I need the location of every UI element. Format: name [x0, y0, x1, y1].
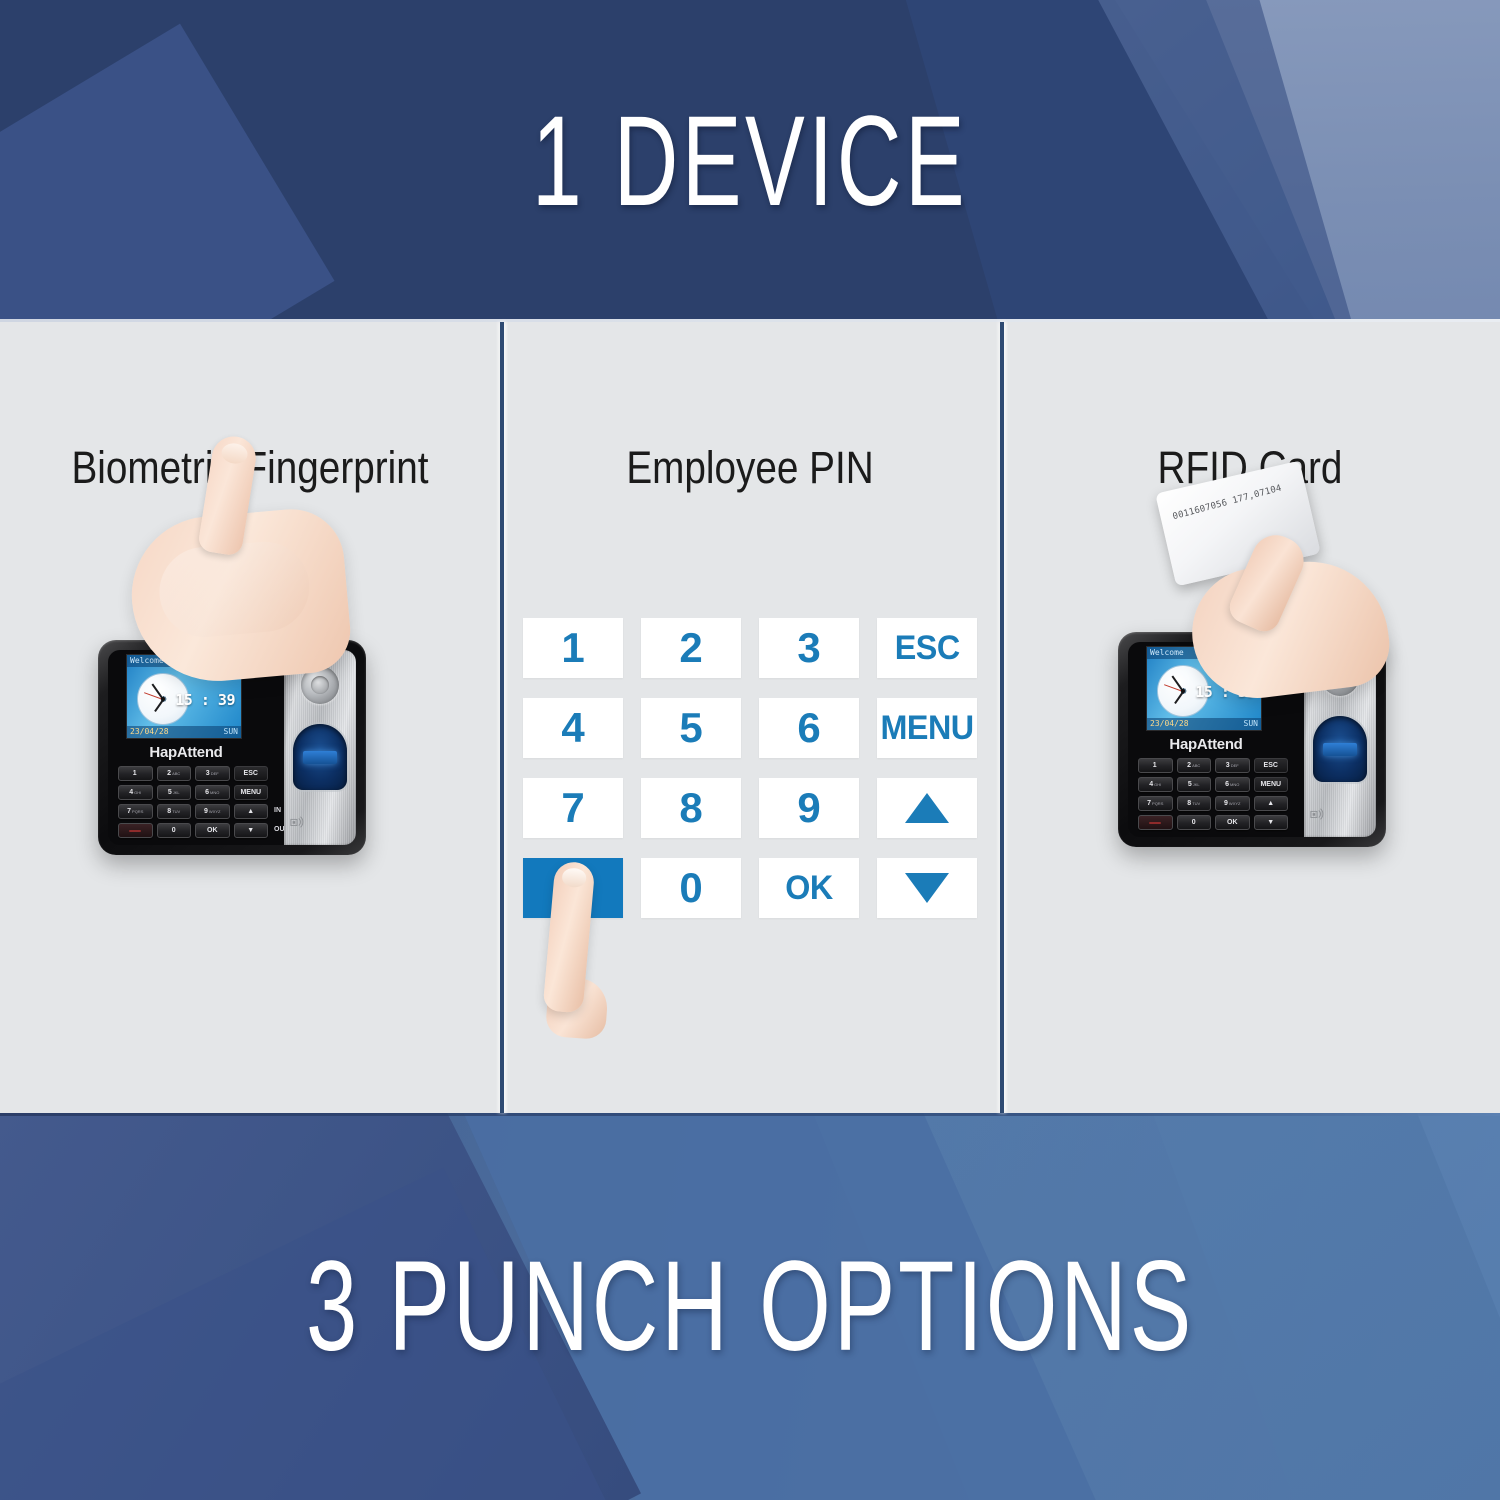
- device-key[interactable]: 0: [157, 823, 192, 838]
- header-banner: 1 DEVICE: [0, 0, 1500, 322]
- screen-welcome-text: Welcome: [127, 655, 241, 667]
- footer-title: 3 PUNCH OPTIONS: [210, 1113, 1290, 1500]
- arrow-up-icon: [905, 793, 949, 823]
- keypad-key-6[interactable]: 6: [759, 698, 859, 758]
- device-key[interactable]: 9WXYZ: [1215, 796, 1250, 811]
- keypad-key-menu[interactable]: MENU: [877, 698, 977, 758]
- clock-center-pin: [1181, 689, 1185, 693]
- rfid-wave-icon: [290, 815, 304, 829]
- keypad-key-up-arrow[interactable]: [877, 778, 977, 838]
- panels-row: Biometric Fingerprint Welcome: [0, 322, 1500, 1113]
- device-key[interactable]: 0: [1177, 815, 1212, 830]
- device-key-esc[interactable]: ESC: [234, 766, 269, 781]
- camera-lens-icon: [301, 666, 339, 704]
- keypad-key-2[interactable]: 2: [641, 618, 741, 678]
- keypad-key-4[interactable]: 4: [523, 698, 623, 758]
- panel-title-fingerprint: Biometric Fingerprint: [35, 442, 465, 494]
- device-key[interactable]: 4GHI: [118, 785, 153, 800]
- device-brand-label: HapAttend: [126, 744, 246, 761]
- rfid-card-number: 0011607056 177,07104: [1172, 484, 1283, 523]
- infographic-page: 1 DEVICE Biometric Fingerprint Welcome: [0, 0, 1500, 1500]
- rfid-wave-icon: [1310, 807, 1324, 821]
- hand-holding-rfid-card: 0011607056 177,07104: [1150, 472, 1420, 682]
- keypad-key-9[interactable]: 9: [759, 778, 859, 838]
- device-key[interactable]: 8TUV: [1177, 796, 1212, 811]
- screen-digital-time: 15 : 39: [175, 691, 235, 709]
- device-key-menu[interactable]: MENU: [234, 785, 269, 800]
- device-keypad: 1 2ABC 3DEF ESC 4GHI 5JKL 6MNO MENU 7PQR…: [118, 766, 268, 838]
- device-key[interactable]: 5JKL: [1177, 777, 1212, 792]
- keypad-key-5[interactable]: 5: [641, 698, 741, 758]
- device-brand-label: HapAttend: [1146, 736, 1266, 753]
- panel-divider-1: [500, 322, 504, 1113]
- device-key-power[interactable]: [1138, 815, 1173, 830]
- screen-date: 23/04/28: [1150, 718, 1189, 730]
- device-key[interactable]: 5JKL: [157, 785, 192, 800]
- screen-status-bar: 23/04/28 SUN: [1147, 718, 1261, 730]
- attendance-terminal: Welcome: [98, 640, 366, 855]
- device-key-up-arrow[interactable]: ▲: [1254, 796, 1289, 811]
- device-fingerprint: Welcome: [98, 640, 366, 855]
- screen-date: 23/04/28: [130, 726, 169, 738]
- keypad-key-ok[interactable]: OK: [759, 858, 859, 918]
- fingerprint-sensor[interactable]: [1313, 716, 1367, 782]
- device-screen: Welcome: [126, 654, 242, 739]
- clock-center-pin: [161, 697, 165, 701]
- device-key[interactable]: 2ABC: [157, 766, 192, 781]
- screen-day-of-week: SUN: [1244, 718, 1258, 730]
- device-key[interactable]: 3DEF: [1215, 758, 1250, 773]
- sensor-column: [284, 650, 356, 845]
- device-key-ok[interactable]: OK: [195, 823, 230, 838]
- device-key[interactable]: 4GHI: [1138, 777, 1173, 792]
- device-in-label: IN: [274, 807, 281, 814]
- device-key[interactable]: 1: [118, 766, 153, 781]
- panel-divider-2: [1000, 322, 1004, 1113]
- keypad-key-down-arrow[interactable]: [877, 858, 977, 918]
- device-key[interactable]: 3DEF: [195, 766, 230, 781]
- fingerprint-sensor[interactable]: [293, 724, 347, 790]
- keypad-key-3[interactable]: 3: [759, 618, 859, 678]
- device-key[interactable]: 1: [1138, 758, 1173, 773]
- device-key[interactable]: 7PQRS: [118, 804, 153, 819]
- device-key[interactable]: 6MNO: [1215, 777, 1250, 792]
- keypad-key-pressed[interactable]: [523, 858, 623, 918]
- screen-status-bar: 23/04/28 SUN: [127, 726, 241, 738]
- panel-biometric-fingerprint: Biometric Fingerprint Welcome: [0, 322, 500, 1113]
- keypad-key-1[interactable]: 1: [523, 618, 623, 678]
- device-key[interactable]: 8TUV: [157, 804, 192, 819]
- pin-keypad: 1 2 3 ESC 4 5 6 MENU 7 8 9 0: [523, 618, 977, 918]
- device-key-down-arrow[interactable]: ▼: [234, 823, 269, 838]
- device-key-esc[interactable]: ESC: [1254, 758, 1289, 773]
- page-title: 1 DEVICE: [225, 0, 1275, 322]
- device-key-ok[interactable]: OK: [1215, 815, 1250, 830]
- arrow-down-icon: [905, 873, 949, 903]
- panel-rfid-card: RFID Card Welcome: [1000, 322, 1500, 1113]
- device-key[interactable]: 9WXYZ: [195, 804, 230, 819]
- device-key-down-arrow[interactable]: ▼: [1254, 815, 1289, 830]
- panel-employee-pin: Employee PIN 1 2 3 ESC 4 5 6 MENU 7 8 9: [500, 322, 1000, 1113]
- device-key[interactable]: 2ABC: [1177, 758, 1212, 773]
- keypad-key-0[interactable]: 0: [641, 858, 741, 918]
- keypad-key-8[interactable]: 8: [641, 778, 741, 838]
- device-key[interactable]: 7PQRS: [1138, 796, 1173, 811]
- device-key[interactable]: 6MNO: [195, 785, 230, 800]
- device-key-up-arrow[interactable]: ▲: [234, 804, 269, 819]
- device-keypad: 1 2ABC 3DEF ESC 4GHI 5JKL 6MNO MENU 7PQR…: [1138, 758, 1288, 830]
- footer-banner: 3 PUNCH OPTIONS: [0, 1113, 1500, 1500]
- keypad-key-7[interactable]: 7: [523, 778, 623, 838]
- device-key-power[interactable]: [118, 823, 153, 838]
- device-key-menu[interactable]: MENU: [1254, 777, 1289, 792]
- panel-title-pin: Employee PIN: [535, 442, 965, 494]
- screen-day-of-week: SUN: [224, 726, 238, 738]
- keypad-key-esc[interactable]: ESC: [877, 618, 977, 678]
